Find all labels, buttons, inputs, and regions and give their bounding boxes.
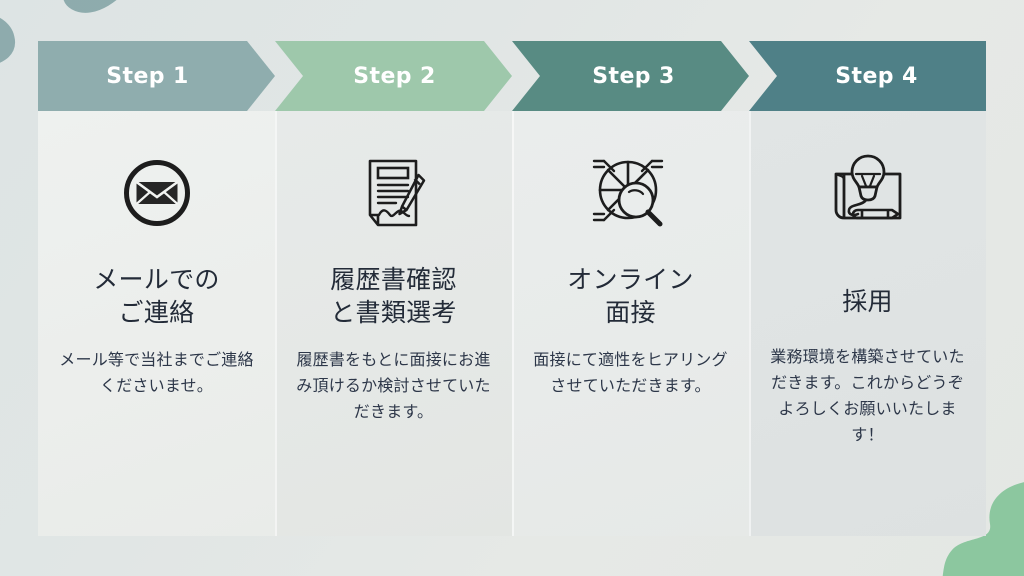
step-panel-2: 履歴書確認 と書類選考 履歴書をもとに面接にお進み頂けるか検討させていただきます… xyxy=(275,111,512,536)
step-icon-3 xyxy=(588,147,674,239)
step-column-2[interactable]: Step 2 xyxy=(275,41,512,536)
step-description-2: 履歴書をもとに面接にお進み頂けるか検討させていただきます。 xyxy=(291,347,496,425)
step-title-4: 採用 xyxy=(842,285,893,318)
step-header-label-1: Step 1 xyxy=(106,64,188,89)
step-icon-1 xyxy=(122,147,192,239)
step-panel-1: メールでの ご連絡 メール等で当社までご連絡くださいませ。 xyxy=(38,111,275,536)
document-signature-pen-icon xyxy=(354,153,434,233)
step-icon-2 xyxy=(354,147,434,239)
envelope-circle-icon xyxy=(122,158,192,228)
lightbulb-book-pencil-icon xyxy=(826,152,910,234)
step-panel-3: オンライン 面接 面接にて適性をヒアリングさせていただきます。 xyxy=(512,111,749,536)
pie-chart-magnifier-icon xyxy=(588,152,674,234)
step-column-4[interactable]: Step 4 xyxy=(749,41,986,536)
process-steps: Step 1 メールでの ご連絡 メール等で当社までご連絡くださいませ。 xyxy=(38,41,986,536)
step-header-label-3: Step 3 xyxy=(592,64,674,89)
slide-canvas: Step 1 メールでの ご連絡 メール等で当社までご連絡くださいませ。 xyxy=(0,0,1024,576)
step-description-3: 面接にて適性をヒアリングさせていただきます。 xyxy=(528,347,733,399)
step-description-4: 業務環境を構築させていただきます。これからどうぞよろしくお願いいたします！ xyxy=(768,344,968,448)
step-header-2[interactable]: Step 2 xyxy=(275,41,512,111)
step-title-2: 履歴書確認 と書類選考 xyxy=(330,263,457,329)
step-column-3[interactable]: Step 3 xyxy=(512,41,749,536)
step-header-4[interactable]: Step 4 xyxy=(749,41,986,111)
step-header-1[interactable]: Step 1 xyxy=(38,41,275,111)
step-title-3: オンライン 面接 xyxy=(567,263,694,329)
step-column-1[interactable]: Step 1 メールでの ご連絡 メール等で当社までご連絡くださいませ。 xyxy=(38,41,275,536)
step-description-1: メール等で当社までご連絡くださいませ。 xyxy=(54,347,259,399)
step-header-label-2: Step 2 xyxy=(353,64,435,89)
step-header-label-4: Step 4 xyxy=(835,64,917,89)
step-icon-4 xyxy=(826,147,910,239)
step-title-1: メールでの ご連絡 xyxy=(93,263,220,329)
step-panel-4: 採用 業務環境を構築させていただきます。これからどうぞよろしくお願いいたします！ xyxy=(749,111,986,536)
step-header-3[interactable]: Step 3 xyxy=(512,41,749,111)
